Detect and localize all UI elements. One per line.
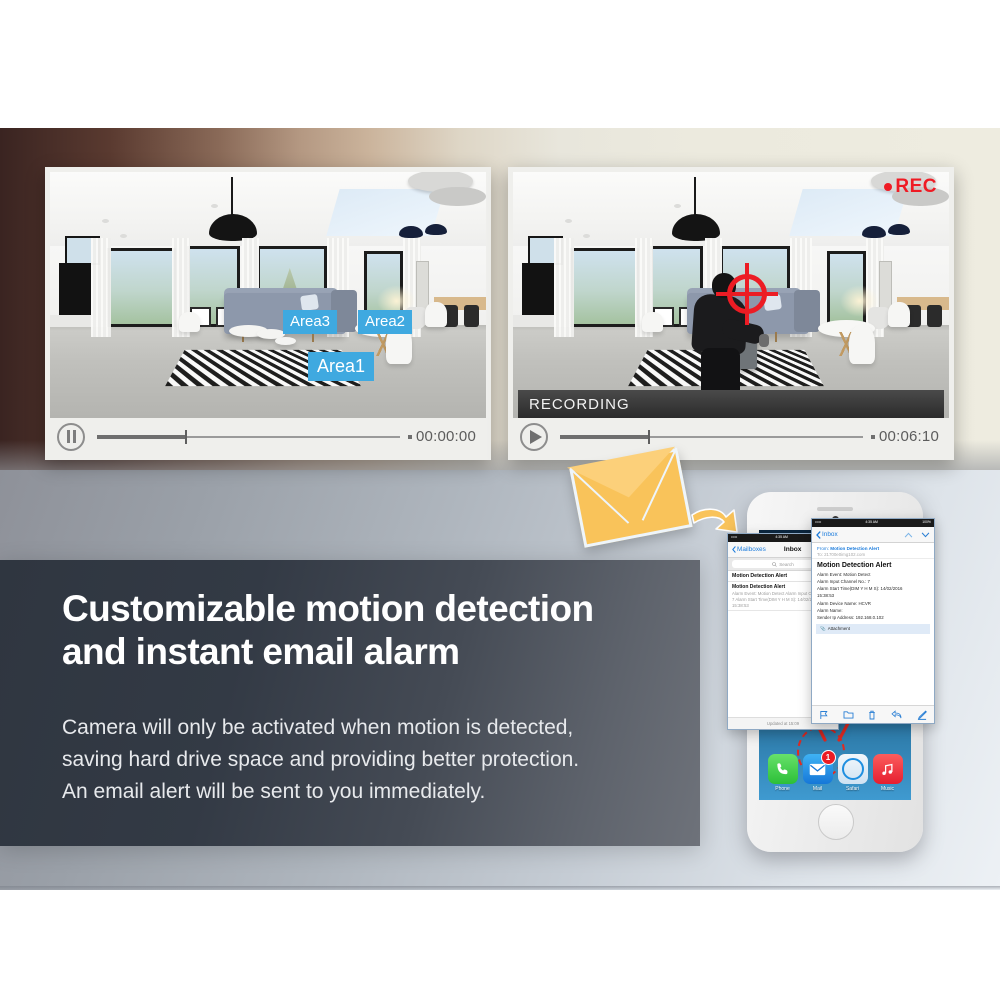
- chevron-left-icon: [816, 531, 821, 539]
- zone-label-area1[interactable]: Area1: [308, 352, 374, 381]
- message-panel: Customizable motion detection and instan…: [0, 560, 700, 846]
- compass-icon[interactable]: [838, 754, 868, 784]
- alarm-field: Alarm Input Channel No.: 7: [817, 578, 929, 585]
- body-text: Camera will only be activated when motio…: [62, 712, 672, 808]
- unread-badge: 1: [821, 750, 836, 765]
- rec-dot-icon: [884, 183, 892, 191]
- play-button[interactable]: [520, 423, 548, 451]
- chevron-down-icon[interactable]: [921, 532, 930, 538]
- slider-handle[interactable]: [648, 430, 650, 444]
- living-room-scene: [50, 172, 486, 418]
- alarm-field: 15:38:53: [817, 592, 929, 599]
- living-room-scene-intruder: [513, 172, 949, 418]
- headline: Customizable motion detection and instan…: [62, 588, 682, 674]
- recording-status-banner: RECORDING: [518, 390, 944, 418]
- app-dock: Phone 1 Mail Safari: [759, 754, 911, 792]
- trash-icon[interactable]: [868, 710, 876, 720]
- target-crosshair-icon: [716, 263, 778, 325]
- compose-icon[interactable]: [917, 710, 927, 720]
- mail-headers: From: Motion Detection Alert To: 21700e0…: [812, 543, 934, 559]
- alarm-field: Alarm Name:: [817, 607, 929, 614]
- detail-navbar: Inbox: [812, 527, 934, 543]
- video-screen-left: Area3 Area2 Area1: [50, 172, 486, 418]
- dock-app-music[interactable]: Music: [873, 754, 903, 792]
- slider-handle[interactable]: [185, 430, 187, 444]
- promo-banner: Area3 Area2 Area1 00:00:00: [0, 0, 1000, 1000]
- attachment-row[interactable]: 📎 Attachment: [816, 624, 930, 634]
- background-top-band: [0, 0, 1000, 128]
- mail-subject: Motion Detection Alert: [812, 559, 934, 571]
- dock-label: Phone: [768, 786, 798, 792]
- search-placeholder: Search: [779, 562, 794, 567]
- dock-app-phone[interactable]: Phone: [768, 754, 798, 792]
- inbox-title: Inbox: [784, 546, 802, 553]
- dock-label: Music: [873, 786, 903, 792]
- back-to-inbox-button[interactable]: Inbox: [816, 531, 838, 539]
- play-icon: [530, 430, 542, 444]
- status-carrier: •••••: [731, 536, 737, 539]
- flag-icon[interactable]: [819, 710, 828, 720]
- pause-button[interactable]: [57, 423, 85, 451]
- dock-app-safari[interactable]: Safari: [838, 754, 868, 792]
- progress-slider-right[interactable]: [560, 430, 863, 444]
- home-button[interactable]: [818, 804, 854, 840]
- dock-app-mail[interactable]: 1 Mail: [803, 754, 833, 792]
- to-line: To: 21700e0img102.com: [817, 552, 929, 557]
- earpiece-speaker: [817, 507, 853, 511]
- back-to-mailboxes-button[interactable]: Mailboxes: [732, 546, 766, 553]
- music-note-icon[interactable]: [873, 754, 903, 784]
- status-time: 4:35 AM: [865, 521, 878, 524]
- paperclip-icon: 📎: [820, 626, 826, 632]
- alarm-field: Alarm Device Name: HCVR: [817, 600, 929, 607]
- chevron-up-icon[interactable]: [904, 532, 913, 538]
- attachment-name: Attachment: [828, 626, 850, 631]
- status-carrier: •••••: [815, 521, 821, 524]
- record-dot-icon: [408, 435, 412, 439]
- search-icon: [772, 562, 777, 567]
- zone-label-area3[interactable]: Area3: [283, 310, 337, 334]
- record-dot-icon: [871, 435, 875, 439]
- video-screen-right: REC RECORDING: [513, 172, 949, 418]
- timestamp-left: 00:00:00: [408, 428, 486, 445]
- timestamp-right: 00:06:10: [871, 428, 949, 445]
- alarm-field: Alarm Event: Motion Detect: [817, 571, 929, 578]
- status-time: 4:35 AM: [775, 536, 788, 539]
- alarm-field: Alarm Start Time(DIM Y H M S): 14/02/201…: [817, 585, 929, 592]
- from-line: From: Motion Detection Alert: [817, 546, 929, 551]
- video-player-left[interactable]: Area3 Area2 Area1 00:00:00: [45, 167, 491, 460]
- phone-icon[interactable]: [768, 754, 798, 784]
- progress-slider-left[interactable]: [97, 430, 400, 444]
- background-bottom-white: [0, 890, 1000, 1000]
- mail-body: Alarm Event: Motion Detect Alarm Input C…: [812, 571, 934, 621]
- video-player-right[interactable]: REC RECORDING 00:06:10: [508, 167, 954, 460]
- mail-detail-window[interactable]: ••••• 4:35 AM 100% Inbox From: Motion De…: [811, 518, 935, 724]
- alarm-field: Sender Ip Address: 192.168.0.102: [817, 614, 929, 621]
- pause-icon: [67, 430, 76, 443]
- reply-icon[interactable]: [891, 710, 902, 719]
- chevron-left-icon: [732, 546, 736, 553]
- mail-toolbar: [812, 705, 934, 723]
- dock-label: Safari: [838, 786, 868, 792]
- folder-icon[interactable]: [843, 710, 854, 719]
- ios-status-bar: ••••• 4:35 AM 100%: [812, 519, 934, 527]
- zone-label-area2[interactable]: Area2: [358, 310, 412, 334]
- status-battery: 100%: [922, 521, 931, 524]
- dock-label: Mail: [803, 786, 833, 792]
- rec-indicator: REC: [884, 177, 937, 196]
- player-controls-right: 00:06:10: [513, 418, 949, 455]
- player-controls-left: 00:00:00: [50, 418, 486, 455]
